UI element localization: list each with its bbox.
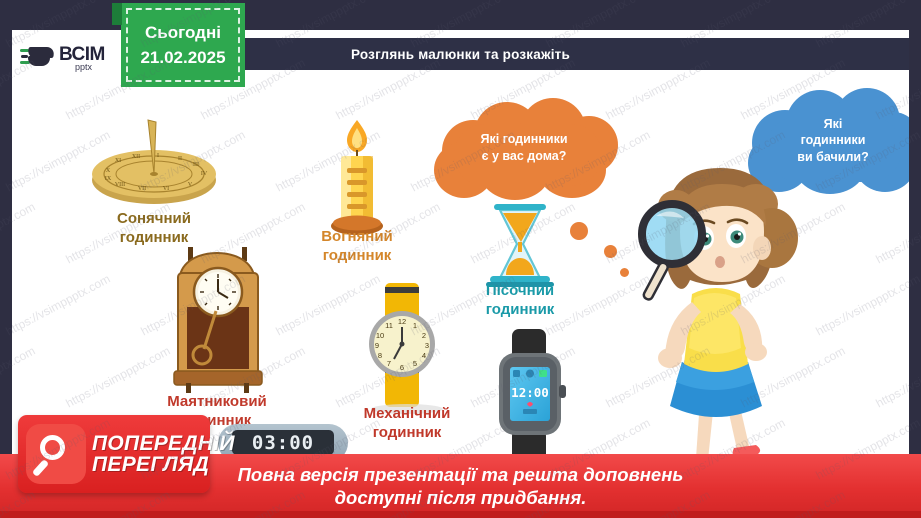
digital-clock-time: 03:00 bbox=[252, 432, 314, 454]
wristwatch-icon: 1212 345 678 91011 bbox=[337, 275, 477, 415]
preview-badge[interactable]: ПОПЕРЕДНІЙ ПЕРЕГЛЯД bbox=[18, 415, 210, 493]
magnifier-icon bbox=[26, 424, 86, 484]
svg-text:6: 6 bbox=[400, 363, 404, 372]
digital-clock-screen: 03:00 bbox=[232, 430, 334, 455]
svg-text:2: 2 bbox=[422, 331, 426, 340]
svg-text:9: 9 bbox=[375, 341, 379, 350]
item-candle: Вогняний годинник bbox=[287, 108, 427, 278]
preview-line1: ПОПЕРЕДНІЙ bbox=[92, 433, 235, 454]
svg-text:I: I bbox=[157, 153, 159, 159]
label-line2: годинник bbox=[323, 247, 392, 264]
date-tag-date: 21.02.2025 bbox=[140, 45, 225, 71]
preview-line2: ПЕРЕГЛЯД bbox=[92, 454, 235, 475]
page-title: Розглянь малюнки та розкажіть bbox=[351, 47, 570, 62]
date-tag-label: Сьогодні bbox=[145, 20, 221, 46]
label-line1: Маятниковий bbox=[167, 393, 267, 410]
smartwatch-time: 12:00 bbox=[511, 385, 549, 400]
brand-logo[interactable]: ВСІМ pptx bbox=[12, 30, 132, 86]
date-tag-fold bbox=[112, 3, 122, 25]
label-line1: Механічний bbox=[364, 405, 451, 422]
banner-bottom-strip bbox=[0, 511, 921, 518]
bubble-line2: годинники bbox=[801, 133, 866, 147]
candle-clock-icon bbox=[287, 108, 427, 238]
smartwatch-icon: 12:00 bbox=[467, 325, 597, 465]
svg-text:IV: IV bbox=[201, 171, 208, 177]
label-line1: Пісочний bbox=[486, 282, 554, 299]
banner-line1: Повна версія презентації та решта доповн… bbox=[238, 463, 684, 486]
svg-text:VII: VII bbox=[138, 186, 146, 192]
svg-text:7: 7 bbox=[387, 359, 391, 368]
svg-text:4: 4 bbox=[422, 351, 426, 360]
svg-text:IX: IX bbox=[105, 176, 112, 182]
candle-label: Вогняний годинник bbox=[287, 228, 427, 266]
svg-text:V: V bbox=[188, 182, 193, 188]
girl-character-illustration bbox=[604, 162, 819, 482]
svg-text:X: X bbox=[106, 168, 111, 174]
svg-text:XI: XI bbox=[115, 158, 121, 164]
svg-text:5: 5 bbox=[413, 359, 417, 368]
slide-root: XXI XIII IIIII IVV VIVII VIIIIX Сонячний… bbox=[0, 0, 921, 518]
svg-text:III: III bbox=[193, 162, 199, 168]
item-hourglass: Пісочний годинник bbox=[460, 200, 580, 330]
label-line2: годинник bbox=[486, 301, 555, 318]
speech-bubble-orange: Які годинники є у вас дома? bbox=[424, 90, 624, 205]
svg-text:8: 8 bbox=[378, 351, 382, 360]
pendulum-clock-icon bbox=[132, 245, 302, 395]
svg-text:VI: VI bbox=[163, 186, 169, 192]
bubble-line2: є у вас дома? bbox=[482, 149, 567, 163]
bubble-text: Які годинники ви бачили? bbox=[797, 116, 868, 165]
bubble-line3: ви бачили? bbox=[797, 150, 868, 164]
label-line2: годинник bbox=[373, 424, 442, 441]
item-mechanical: 1212 345 678 91011 Механічний годинник bbox=[337, 275, 477, 445]
bubble-line1: Які bbox=[824, 117, 843, 131]
brand-text: ВСІМ pptx bbox=[59, 45, 105, 72]
label-line1: Сонячний bbox=[117, 210, 191, 227]
item-pendulum: Маятниковий годинник bbox=[132, 245, 302, 435]
svg-text:XII: XII bbox=[132, 154, 140, 160]
svg-text:12: 12 bbox=[398, 317, 406, 326]
sundial-label: Сонячний годинник bbox=[74, 210, 234, 248]
item-sundial: XXI XIII IIIII IVV VIVII VIIIIX Сонячний… bbox=[74, 110, 234, 260]
svg-text:VIII: VIII bbox=[115, 182, 125, 188]
banner-line2: доступні після придбання. bbox=[335, 486, 587, 509]
preview-badge-text: ПОПЕРЕДНІЙ ПЕРЕГЛЯД bbox=[92, 433, 235, 476]
date-tag: Сьогодні 21.02.2025 bbox=[121, 3, 245, 87]
svg-text:II: II bbox=[178, 156, 182, 162]
svg-text:1: 1 bbox=[413, 321, 417, 330]
hourglass-icon bbox=[460, 200, 580, 292]
svg-text:3: 3 bbox=[425, 341, 429, 350]
sundial-icon: XXI XIII IIIII IVV VIVII VIIIIX bbox=[74, 110, 234, 215]
bubble-line1: Які годинники bbox=[480, 132, 567, 146]
svg-text:11: 11 bbox=[385, 321, 393, 330]
label-line2: годинник bbox=[120, 229, 189, 246]
label-line1: Вогняний bbox=[321, 228, 393, 245]
svg-text:10: 10 bbox=[376, 331, 384, 340]
bubble-text: Які годинники є у вас дома? bbox=[480, 131, 567, 164]
graduation-cap-icon bbox=[20, 45, 56, 71]
